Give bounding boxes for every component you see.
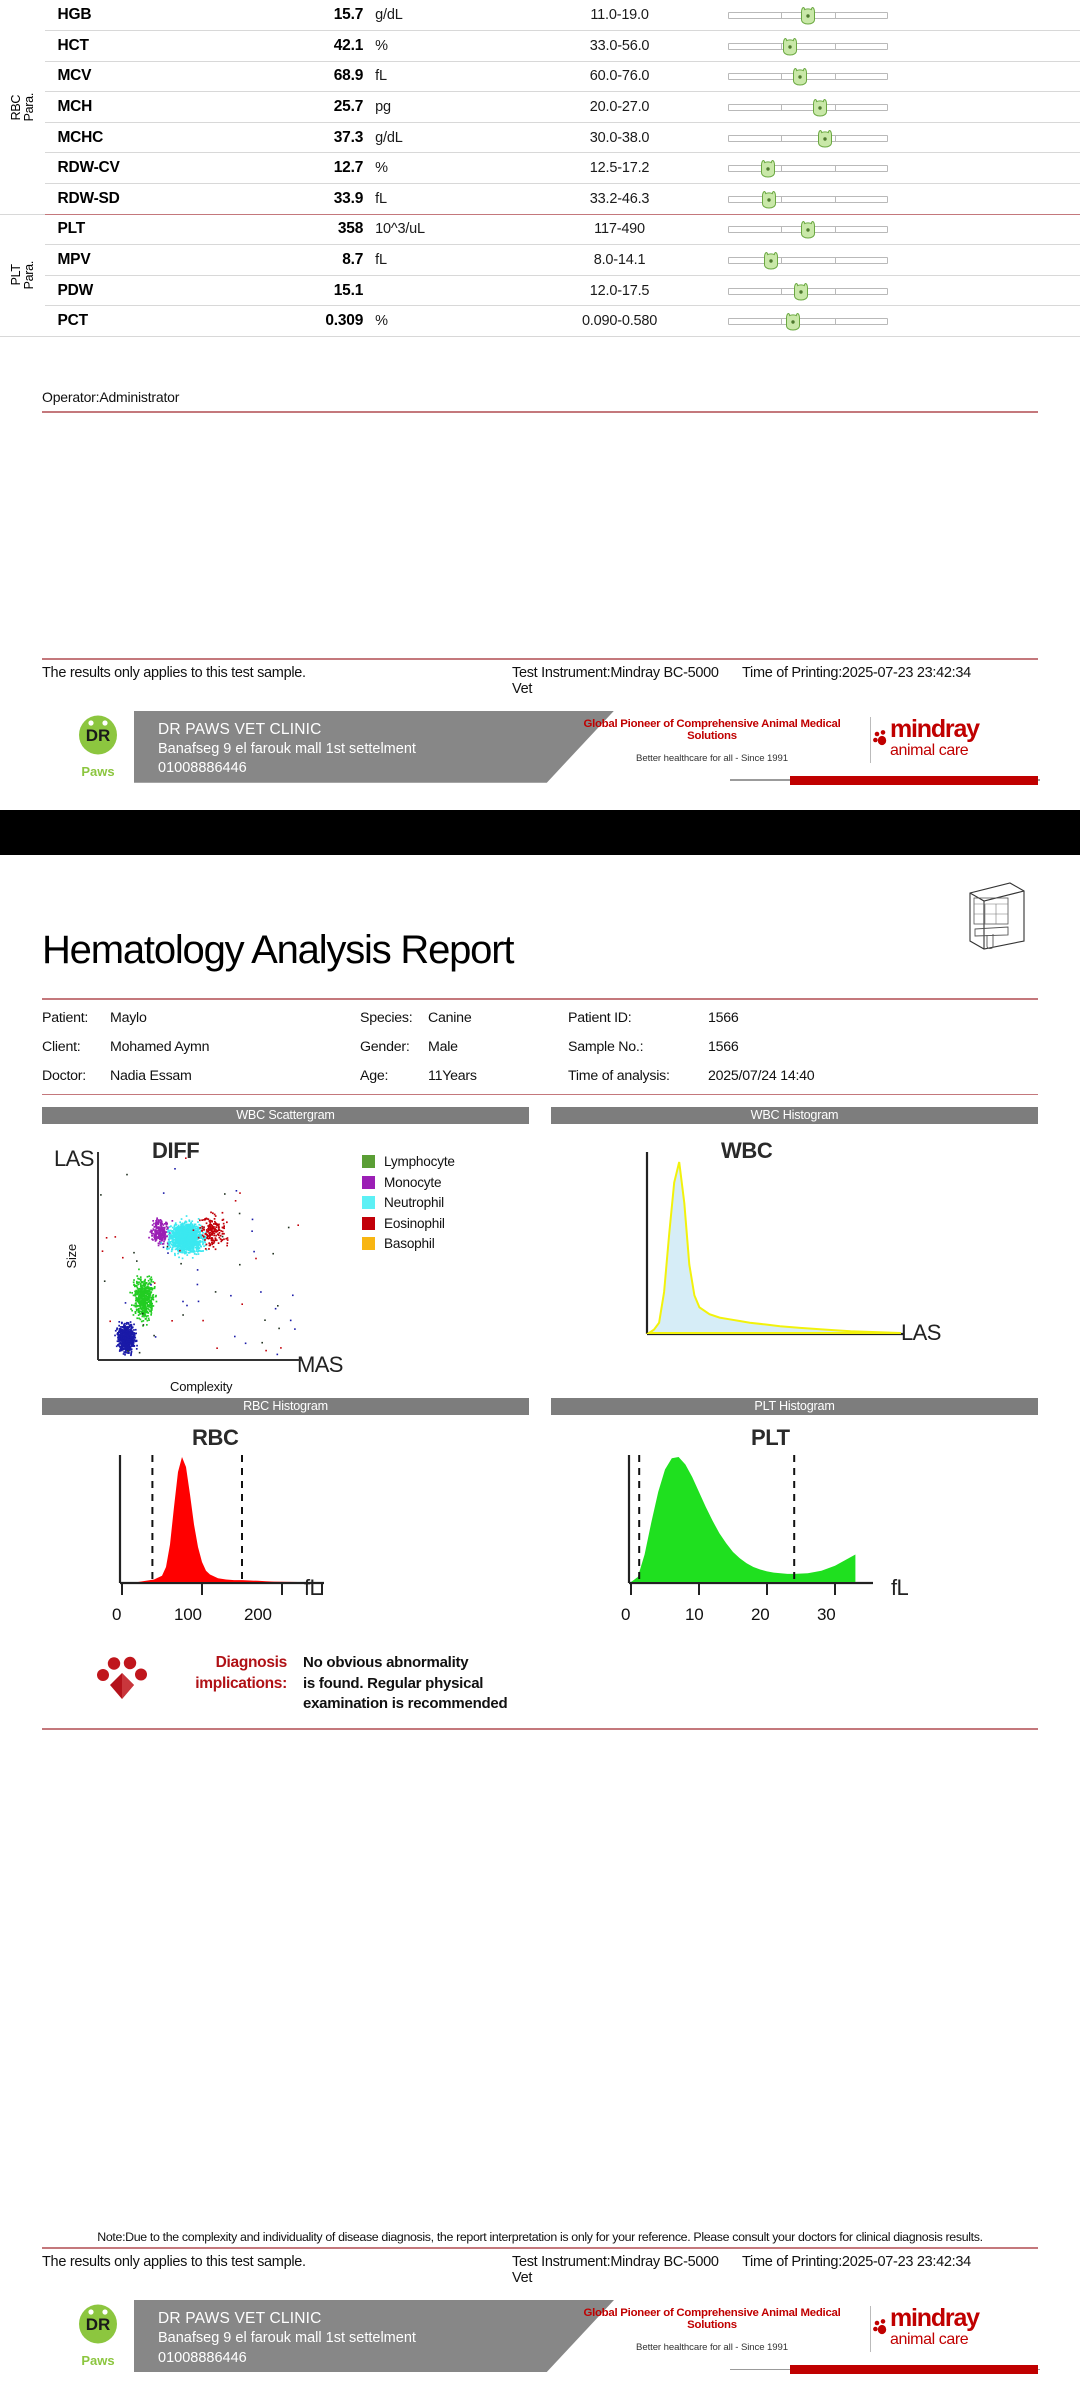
mindray-block: Global Pioneer of Comprehensive Animal M… — [538, 711, 1038, 783]
charts-row-2: RBC Histogram RBC fL 0 100 200 PL — [0, 1394, 1080, 1635]
footer-instrument: Test Instrument:Mindray BC-5000 Vet — [512, 2254, 742, 2286]
analyte-value: 358 — [267, 214, 375, 245]
info-value: Nadia Essam — [110, 1062, 360, 1091]
analyte-value: 12.7 — [267, 153, 375, 184]
info-label: Species: — [360, 1004, 428, 1033]
analyte-unit: 10^3/uL — [375, 214, 511, 245]
analyte-value: 37.3 — [267, 122, 375, 153]
range-bar-cell — [728, 0, 1080, 31]
divider — [870, 717, 871, 763]
footer-printing-time: Time of Printing:2025-07-23 23:42:34 — [742, 2254, 1038, 2286]
range-bar-tick — [835, 73, 836, 80]
analyte-name: MCHC — [45, 122, 267, 153]
diagnosis-label: Diagnosis implications: — [175, 1653, 287, 1694]
legend-item: Monocyte — [362, 1175, 455, 1190]
analyte-range: 12.5-17.2 — [512, 153, 728, 184]
footer-instrument: Test Instrument:Mindray BC-5000 Vet — [512, 665, 742, 697]
range-bar-cell — [728, 92, 1080, 123]
range-marker-paw-icon — [762, 251, 779, 270]
range-bar-tick — [781, 73, 782, 80]
range-bar-tick — [835, 135, 836, 142]
analyte-unit — [375, 275, 511, 306]
footer-disclaimer: The results only applies to this test sa… — [42, 665, 512, 697]
mindray-slogan: Global Pioneer of Comprehensive Animal M… — [562, 718, 862, 764]
range-bar-cell — [728, 245, 1080, 276]
range-bar-cell — [728, 214, 1080, 245]
analyte-name: MCH — [45, 92, 267, 123]
results-table: RBC Para. HGB 15.7 g/dL 11.0-19.0 — [0, 0, 1080, 337]
table-row: MCH 25.7 pg 20.0-27.0 — [0, 92, 1080, 123]
tick-label: 10 — [685, 1605, 704, 1625]
legend-swatch-monocyte — [362, 1176, 375, 1189]
range-bar-tick — [781, 196, 782, 203]
slogan-main: Global Pioneer of Comprehensive Animal M… — [562, 718, 862, 742]
mindray-block: Global Pioneer of Comprehensive Animal M… — [538, 2300, 1038, 2372]
range-marker-paw-icon — [799, 220, 816, 239]
info-row: Client: Mohamed Aymn Gender: Male Sample… — [42, 1033, 1038, 1062]
info-label: Patient ID: — [568, 1004, 708, 1033]
analyte-name: RDW-SD — [45, 184, 267, 215]
range-bar-tick — [835, 257, 836, 264]
svg-text:DR: DR — [86, 726, 111, 745]
info-value: 2025/07/24 14:40 — [708, 1062, 1038, 1091]
analyte-value: 33.9 — [267, 184, 375, 215]
range-marker-paw-icon — [761, 190, 778, 209]
analyte-value: 25.7 — [267, 92, 375, 123]
analyte-unit: fL — [375, 184, 511, 215]
analyte-name: MPV — [45, 245, 267, 276]
legend-swatch-basophil — [362, 1237, 375, 1250]
analyte-name: MCV — [45, 61, 267, 92]
y-axis-sublabel: Size — [64, 1244, 79, 1269]
analyte-name: RDW-CV — [45, 153, 267, 184]
analyte-range: 12.0-17.5 — [512, 275, 728, 306]
analyte-range: 33.2-46.3 — [512, 184, 728, 215]
analyte-name: PDW — [45, 275, 267, 306]
analyte-unit: fL — [375, 245, 511, 276]
info-label: Patient: — [42, 1004, 110, 1033]
legend-label: Eosinophil — [384, 1216, 445, 1231]
analyte-unit: % — [375, 306, 511, 337]
paws-logo-icon: DR — [71, 2304, 125, 2352]
group-label-plt: PLT Para. — [10, 261, 36, 289]
analyte-value: 15.1 — [267, 275, 375, 306]
diagnosis-section: Diagnosis implications: No obvious abnor… — [0, 1653, 1080, 1714]
wbc-histogram-plot — [631, 1148, 981, 1363]
info-value: 1566 — [708, 1033, 1038, 1062]
mindray-tagline: animal care — [890, 742, 979, 760]
range-bar-track — [728, 135, 888, 142]
wbc-scattergram-panel: WBC Scattergram LAS DIFF Size MAS Comple… — [42, 1107, 529, 1394]
analyte-value: 42.1 — [267, 31, 375, 62]
slogan-sub: Better healthcare for all - Since 1991 — [562, 2342, 862, 2353]
paw-icon — [95, 1655, 153, 1707]
mindray-paw-icon — [872, 729, 896, 753]
plt-histogram-panel: PLT Histogram PLT fL 0 10 20 30 — [551, 1398, 1038, 1635]
analyte-unit: % — [375, 31, 511, 62]
info-row: Doctor: Nadia Essam Age: 11Years Time of… — [42, 1062, 1038, 1091]
chart-header: WBC Scattergram — [42, 1107, 529, 1124]
page-separator — [0, 810, 1080, 855]
range-bar-tick — [835, 288, 836, 295]
tick-label: 30 — [817, 1605, 836, 1625]
range-bar — [728, 190, 888, 208]
table-row: RDW-SD 33.9 fL 33.2-46.3 — [0, 184, 1080, 215]
range-bar — [728, 312, 888, 330]
range-bar-track — [728, 43, 888, 50]
page-title: Hematology Analysis Report — [0, 928, 513, 973]
range-marker-paw-icon — [812, 98, 829, 117]
analyte-range: 11.0-19.0 — [512, 0, 728, 31]
clinic-banner: DR Paws DR PAWS VET CLINIC Banafseg 9 el… — [42, 2300, 1038, 2372]
range-bar-tick — [781, 257, 782, 264]
clinic-banner: DR Paws DR PAWS VET CLINIC Banafseg 9 el… — [42, 711, 1038, 783]
mindray-slogan: Global Pioneer of Comprehensive Animal M… — [562, 2307, 862, 2353]
hematology-analyzer-icon — [962, 877, 1028, 958]
info-label: Time of analysis: — [568, 1062, 708, 1091]
range-bar — [728, 282, 888, 300]
range-marker-paw-icon — [793, 282, 810, 301]
range-marker-paw-icon — [785, 312, 802, 331]
legend-label: Basophil — [384, 1236, 435, 1251]
page2-header: Hematology Analysis Report — [0, 920, 1080, 998]
banner-red-bar — [790, 776, 1038, 785]
slogan-main: Global Pioneer of Comprehensive Animal M… — [562, 2307, 862, 2331]
table-row: PCT 0.309 % 0.090-0.580 — [0, 306, 1080, 337]
chart-header: PLT Histogram — [551, 1398, 1038, 1415]
slogan-sub: Better healthcare for all - Since 1991 — [562, 753, 862, 764]
info-value: 11Years — [428, 1062, 568, 1091]
range-marker-paw-icon — [759, 159, 776, 178]
footer-info: The results only applies to this test sa… — [0, 2249, 1080, 2286]
range-bar-tick — [781, 288, 782, 295]
analyte-value: 8.7 — [267, 245, 375, 276]
analyte-value: 0.309 — [267, 306, 375, 337]
footer-printing-time: Time of Printing:2025-07-23 23:42:34 — [742, 665, 1038, 697]
range-bar-track — [728, 104, 888, 111]
table-row: MCV 68.9 fL 60.0-76.0 — [0, 61, 1080, 92]
mindray-wordmark: mindray — [890, 717, 979, 742]
chart-title: PLT — [751, 1425, 790, 1451]
tick-label: 200 — [244, 1605, 272, 1625]
x-axis-sublabel: Complexity — [170, 1379, 232, 1394]
analyte-unit: % — [375, 153, 511, 184]
range-bar-tick — [781, 165, 782, 172]
analyte-name: HCT — [45, 31, 267, 62]
clinic-logo-text: Paws — [81, 2353, 114, 2368]
info-label: Age: — [360, 1062, 428, 1091]
tick-label: 0 — [112, 1605, 121, 1625]
info-row: Patient: Maylo Species: Canine Patient I… — [42, 1004, 1038, 1033]
patient-info-table: Patient: Maylo Species: Canine Patient I… — [42, 1004, 1038, 1091]
range-bar-track — [728, 196, 888, 203]
analyte-range: 30.0-38.0 — [512, 122, 728, 153]
legend-label: Neutrophil — [384, 1195, 444, 1210]
paws-logo-icon: DR — [71, 715, 125, 763]
analyte-unit: g/dL — [375, 122, 511, 153]
diagnosis-label-line1: Diagnosis — [175, 1653, 287, 1673]
info-label: Gender: — [360, 1033, 428, 1062]
diagnosis-text: No obvious abnormality is found. Regular… — [303, 1653, 507, 1714]
range-bar — [728, 251, 888, 269]
analyte-name: PCT — [45, 306, 267, 337]
report-page-2: Hematology Analysis Report Patient: Mayl… — [0, 855, 1080, 2400]
range-bar-tick — [835, 165, 836, 172]
rbc-histogram-plot — [102, 1455, 402, 1655]
group-label-cell: PLT Para. — [0, 214, 45, 336]
range-bar-tick — [835, 12, 836, 19]
group-label-cell: RBC Para. — [0, 0, 45, 214]
wbc-histogram-panel: WBC Histogram WBC LAS — [551, 1107, 1038, 1394]
table-row: HCT 42.1 % 33.0-56.0 — [0, 31, 1080, 62]
analyte-name: HGB — [45, 0, 267, 31]
svg-text:DR: DR — [86, 2315, 111, 2334]
range-bar-cell — [728, 61, 1080, 92]
range-bar-tick — [781, 318, 782, 325]
range-bar-cell — [728, 184, 1080, 215]
diagnosis-text-line3: examination is recommended — [303, 1694, 507, 1714]
legend-item: Eosinophil — [362, 1216, 455, 1231]
range-bar — [728, 129, 888, 147]
diagnosis-text-line1: No obvious abnormality — [303, 1653, 507, 1673]
legend-item: Lymphocyte — [362, 1154, 455, 1169]
table-row: PLT Para. PLT 358 10^3/uL 117-490 — [0, 214, 1080, 245]
tick-label: 100 — [174, 1605, 202, 1625]
footer-info: The results only applies to this test sa… — [0, 660, 1080, 697]
info-value: Mohamed Aymn — [110, 1033, 360, 1062]
range-marker-paw-icon — [799, 6, 816, 25]
analyte-value: 15.7 — [267, 0, 375, 31]
charts-row-1: WBC Scattergram LAS DIFF Size MAS Comple… — [0, 1095, 1080, 1394]
range-bar-tick — [835, 318, 836, 325]
divider-red — [42, 411, 1038, 413]
legend-label: Monocyte — [384, 1175, 441, 1190]
table-row: RDW-CV 12.7 % 12.5-17.2 — [0, 153, 1080, 184]
report-note: Note:Due to the complexity and individua… — [0, 2230, 1080, 2247]
diagnosis-label-line2: implications: — [175, 1674, 287, 1694]
range-bar-track — [728, 318, 888, 325]
info-value: Canine — [428, 1004, 568, 1033]
chart-header: WBC Histogram — [551, 1107, 1038, 1124]
table-row: MCHC 37.3 g/dL 30.0-38.0 — [0, 122, 1080, 153]
banner-red-bar — [790, 2365, 1038, 2374]
range-bar — [728, 98, 888, 116]
results-table-body: RBC Para. HGB 15.7 g/dL 11.0-19.0 — [0, 0, 1080, 337]
diagnosis-text-line2: is found. Regular physical — [303, 1674, 507, 1694]
divider — [870, 2306, 871, 2352]
range-bar — [728, 220, 888, 238]
scattergram-plot — [84, 1148, 344, 1378]
clinic-logo: DR Paws — [62, 711, 134, 783]
legend-swatch-neutrophil — [362, 1196, 375, 1209]
range-bar-track — [728, 257, 888, 264]
range-bar-tick — [781, 135, 782, 142]
range-marker-paw-icon — [817, 129, 834, 148]
info-value: Maylo — [110, 1004, 360, 1033]
clinic-logo-text: Paws — [81, 764, 114, 779]
range-bar-tick — [781, 12, 782, 19]
tick-label: 0 — [621, 1605, 630, 1625]
range-bar — [728, 6, 888, 24]
analyte-unit: fL — [375, 61, 511, 92]
mindray-tagline: animal care — [890, 2331, 979, 2349]
scattergram-legend: Lymphocyte Monocyte Neutrophil Eosinophi… — [362, 1154, 455, 1257]
range-bar-tick — [835, 104, 836, 111]
mindray-logo: mindray animal care — [890, 717, 979, 760]
legend-label: Lymphocyte — [384, 1154, 455, 1169]
report-page-1: RBC Para. HGB 15.7 g/dL 11.0-19.0 — [0, 0, 1080, 810]
info-label: Doctor: — [42, 1062, 110, 1091]
plt-histogram-plot — [611, 1455, 951, 1655]
range-bar-cell — [728, 306, 1080, 337]
range-bar-cell — [728, 31, 1080, 62]
clinic-logo: DR Paws — [62, 2300, 134, 2372]
analyte-unit: pg — [375, 92, 511, 123]
table-row: PDW 15.1 12.0-17.5 — [0, 275, 1080, 306]
analyte-range: 60.0-76.0 — [512, 61, 728, 92]
range-bar-cell — [728, 153, 1080, 184]
analyte-name: PLT — [45, 214, 267, 245]
range-marker-paw-icon — [791, 67, 808, 86]
analyte-range: 33.0-56.0 — [512, 31, 728, 62]
info-label: Client: — [42, 1033, 110, 1062]
rbc-histogram-panel: RBC Histogram RBC fL 0 100 200 — [42, 1398, 529, 1635]
table-row: MPV 8.7 fL 8.0-14.1 — [0, 245, 1080, 276]
group-label-rbc: RBC Para. — [10, 93, 36, 121]
info-label: Sample No.: — [568, 1033, 708, 1062]
info-value: Male — [428, 1033, 568, 1062]
mindray-paw-icon — [872, 2318, 896, 2342]
legend-item: Basophil — [362, 1236, 455, 1251]
range-bar-tick — [781, 104, 782, 111]
range-bar-tick — [781, 226, 782, 233]
analyte-unit: g/dL — [375, 0, 511, 31]
operator-label: Operator:Administrator — [0, 389, 1080, 405]
range-bar-cell — [728, 275, 1080, 306]
analyte-range: 20.0-27.0 — [512, 92, 728, 123]
analyte-range: 117-490 — [512, 214, 728, 245]
chart-header: RBC Histogram — [42, 1398, 529, 1415]
range-bar-cell — [728, 122, 1080, 153]
chart-title: RBC — [192, 1425, 238, 1451]
tick-label: 20 — [751, 1605, 770, 1625]
range-bar — [728, 37, 888, 55]
range-bar-tick — [835, 226, 836, 233]
range-bar — [728, 159, 888, 177]
analyte-range: 8.0-14.1 — [512, 245, 728, 276]
info-value: 1566 — [708, 1004, 1038, 1033]
legend-swatch-eosinophil — [362, 1217, 375, 1230]
range-bar-tick — [835, 43, 836, 50]
analyte-range: 0.090-0.580 — [512, 306, 728, 337]
range-bar — [728, 67, 888, 85]
legend-item: Neutrophil — [362, 1195, 455, 1210]
range-bar-track — [728, 165, 888, 172]
legend-swatch-lymphocyte — [362, 1155, 375, 1168]
mindray-logo: mindray animal care — [890, 2306, 979, 2349]
table-row: RBC Para. HGB 15.7 g/dL 11.0-19.0 — [0, 0, 1080, 31]
range-bar-tick — [835, 196, 836, 203]
divider-red — [42, 1728, 1038, 1730]
divider-red — [42, 998, 1038, 1000]
footer-disclaimer: The results only applies to this test sa… — [42, 2254, 512, 2286]
analyte-value: 68.9 — [267, 61, 375, 92]
range-marker-paw-icon — [781, 37, 798, 56]
mindray-wordmark: mindray — [890, 2306, 979, 2331]
